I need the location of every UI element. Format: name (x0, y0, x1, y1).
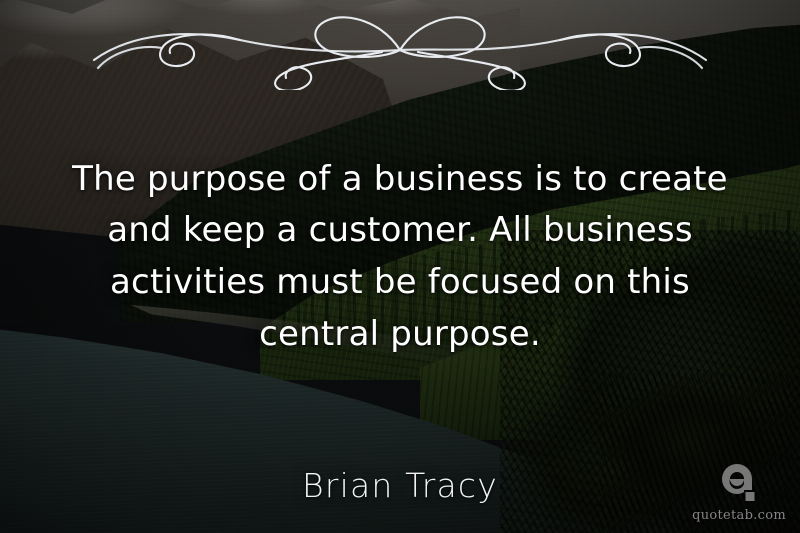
quote-block: The purpose of a business is to create a… (0, 90, 800, 466)
watermark[interactable]: quotetab.com (692, 460, 786, 523)
flourish-divider-icon (90, 6, 710, 90)
quote-text: The purpose of a business is to create a… (55, 154, 745, 403)
watermark-site-label: quotetab.com (692, 508, 786, 523)
quote-card: The purpose of a business is to create a… (0, 0, 800, 533)
quote-author: Brian Tracy (302, 466, 498, 505)
card-content: The purpose of a business is to create a… (0, 0, 800, 533)
quotetab-logo-icon (716, 460, 762, 506)
